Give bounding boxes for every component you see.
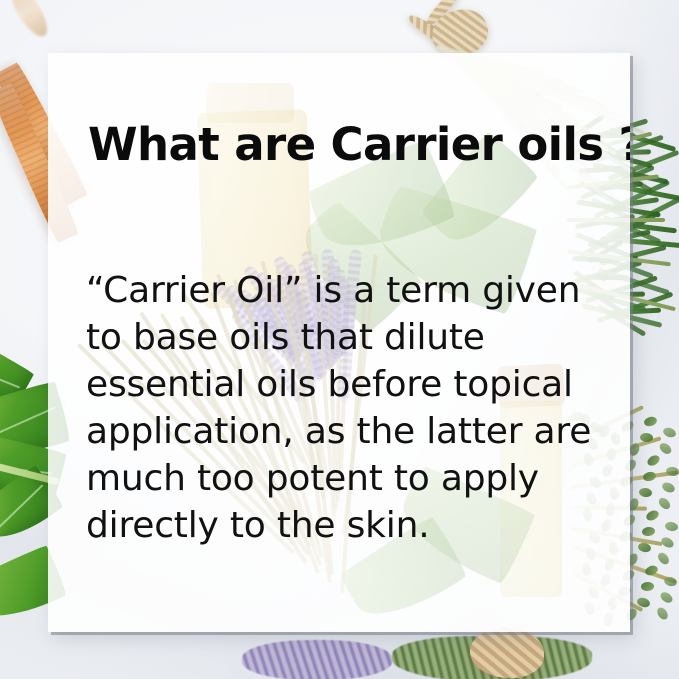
content-card: What are Carrier oils ? “Carrier Oil” is… xyxy=(48,53,630,632)
thyme-leaf xyxy=(660,535,676,549)
lavender-bundle-bottom xyxy=(242,640,392,679)
thyme-leaf xyxy=(661,481,677,495)
thyme-leaf xyxy=(642,471,657,483)
body-line: essential oils before topical xyxy=(86,361,616,408)
thyme-leaf xyxy=(643,415,658,427)
thyme-leaf xyxy=(646,453,662,468)
body-line: “Carrier Oil” is a term given xyxy=(86,267,616,314)
thyme-leaf xyxy=(656,551,671,567)
infographic-canvas: What are Carrier oils ? “Carrier Oil” is… xyxy=(0,0,679,679)
thyme-leaf xyxy=(659,590,675,605)
body-line: to base oils that dilute xyxy=(86,314,616,361)
body-line: application, as the latter are xyxy=(86,408,616,455)
page-title: What are Carrier oils ? xyxy=(88,122,608,167)
body-paragraph: “Carrier Oil” is a term givento base oil… xyxy=(86,267,616,549)
thyme-leaf xyxy=(658,441,674,456)
thyme-leaf xyxy=(662,426,677,439)
twine-knot-icon xyxy=(470,628,544,678)
thyme-leaf xyxy=(645,509,661,523)
thyme-leaf xyxy=(664,521,678,532)
thyme-leaf xyxy=(642,526,656,537)
thyme-leaf xyxy=(641,582,654,591)
body-line: directly to the skin. xyxy=(86,502,616,549)
thyme-leaf xyxy=(657,496,673,512)
thyme-leaf xyxy=(638,487,652,498)
thyme-leaf xyxy=(663,575,678,587)
body-line: much too potent to apply xyxy=(86,455,616,502)
thyme-leaf xyxy=(655,606,670,622)
